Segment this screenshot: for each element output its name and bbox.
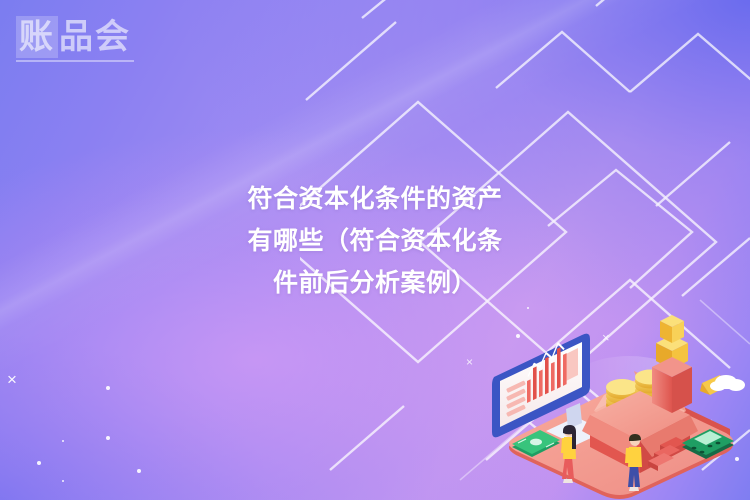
bar-chart	[527, 339, 567, 403]
isometric-finance-illustration	[454, 291, 750, 500]
watermark-char-1: 账	[16, 16, 58, 58]
sparkle-dot-icon	[62, 440, 64, 442]
sparkle-dot-icon	[735, 457, 739, 461]
sparkle-dot-icon	[62, 480, 64, 482]
person-female	[561, 425, 576, 483]
monitor	[492, 334, 606, 445]
tower	[652, 315, 692, 413]
watermark-logo: 账 品 会	[16, 16, 134, 62]
calculator	[682, 429, 734, 459]
stairs	[648, 437, 686, 471]
page-title: 符合资本化条件的资产 有哪些（符合资本化条 件前后分析案例）	[215, 178, 535, 304]
cloud	[710, 375, 745, 391]
coin-stacks	[606, 370, 677, 414]
sparkle-x-icon: ×	[679, 432, 686, 444]
sparkle-x-icon: ×	[558, 370, 566, 383]
sparkle-x-icon: ×	[602, 331, 610, 344]
sparkle-dot-icon	[137, 469, 141, 473]
open-box	[582, 370, 698, 474]
sparkle-x-icon: ×	[7, 371, 17, 388]
gold-arrow	[700, 375, 726, 395]
sparkle-x-icon: ×	[466, 356, 473, 368]
sparkle-dot-icon	[106, 436, 110, 440]
watermark-char-3: 会	[95, 17, 131, 57]
watermark-chars: 账 品 会	[16, 16, 131, 58]
sparkle-dot-icon	[106, 386, 110, 390]
person-male	[625, 434, 642, 491]
sparkle-dot-icon	[37, 461, 41, 465]
sparkle-dot-icon	[527, 307, 529, 309]
cash-bundle	[512, 430, 560, 457]
sparkle-dot-icon	[516, 334, 520, 338]
platform	[509, 389, 733, 499]
cover-banner: 账 品 会 符合资本化条件的资产 有哪些（符合资本化条 件前后分析案例） ×××…	[0, 0, 750, 500]
watermark-underline	[16, 60, 134, 62]
watermark-char-2: 品	[59, 17, 95, 57]
